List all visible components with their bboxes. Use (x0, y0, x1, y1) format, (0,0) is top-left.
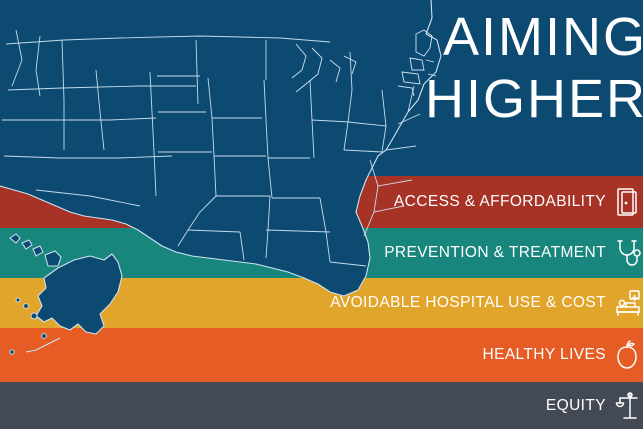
category-label-equity: EQUITY (546, 397, 606, 415)
category-item-equity[interactable]: EQUITY (0, 382, 643, 429)
category-item-prevention[interactable]: PREVENTION & TREATMENT (0, 228, 643, 278)
apple-icon (615, 338, 641, 372)
category-label-access: ACCESS & AFFORDABILITY (394, 193, 606, 211)
category-item-access[interactable]: ACCESS & AFFORDABILITY (0, 176, 643, 228)
stethoscope-icon (615, 236, 641, 270)
category-label-prevention: PREVENTION & TREATMENT (384, 244, 606, 262)
category-label-healthy: HEALTHY LIVES (482, 346, 606, 364)
category-label-avoidable: AVOIDABLE HOSPITAL USE & COST (330, 294, 606, 312)
hospital-bed-icon (615, 286, 641, 320)
balance-scale-icon (615, 389, 641, 423)
category-item-healthy[interactable]: HEALTHY LIVES (0, 328, 643, 382)
category-item-avoidable[interactable]: AVOIDABLE HOSPITAL USE & COST (0, 278, 643, 328)
poster-canvas: AIMING HIGHER ACCESS & AFFORDABILITY PRE… (0, 0, 643, 429)
open-door-icon (615, 185, 641, 219)
category-list: ACCESS & AFFORDABILITY PREVENTION & TREA… (0, 0, 643, 429)
title-area-spacer (0, 0, 643, 176)
